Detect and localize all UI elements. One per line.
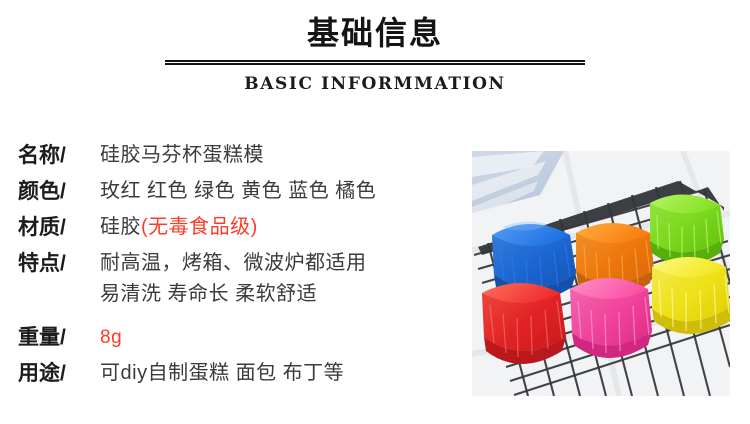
product-info-banner: 基础信息 BASIC INFORMMATION 名称/ 硅胶马芬杯蛋糕模 颜色/… bbox=[0, 0, 750, 424]
spec-row-weight: 重量/ 8g bbox=[18, 322, 468, 353]
spec-value-material: 硅胶(无毒食品级) bbox=[100, 212, 468, 243]
spec-label-material: 材质/ bbox=[18, 212, 100, 243]
spec-label-usage: 用途/ bbox=[18, 358, 100, 389]
spec-label-color: 颜色/ bbox=[18, 176, 100, 207]
spec-row-color: 颜色/ 玫红 红色 绿色 黄色 蓝色 橘色 bbox=[18, 176, 468, 207]
spec-value-usage: 可diy自制蛋糕 面包 布丁等 bbox=[100, 358, 468, 389]
spec-value-features-line2: 易清洗 寿命长 柔软舒适 bbox=[100, 279, 468, 310]
spec-row-name: 名称/ 硅胶马芬杯蛋糕模 bbox=[18, 140, 468, 171]
spec-value-weight: 8g bbox=[100, 322, 468, 353]
spec-row-features: 特点/ 耐高温，烤箱、微波炉都适用易清洗 寿命长 柔软舒适 bbox=[18, 248, 468, 310]
page-subtitle: BASIC INFORMMATION bbox=[0, 73, 750, 95]
spec-value-color: 玫红 红色 绿色 黄色 蓝色 橘色 bbox=[100, 176, 468, 207]
divider-line-top bbox=[165, 60, 585, 62]
spec-list: 名称/ 硅胶马芬杯蛋糕模 颜色/ 玫红 红色 绿色 黄色 蓝色 橘色 材质/ 硅… bbox=[18, 140, 468, 394]
spec-value-name: 硅胶马芬杯蛋糕模 bbox=[100, 140, 468, 171]
spec-row-usage: 用途/ 可diy自制蛋糕 面包 布丁等 bbox=[18, 358, 468, 389]
spec-label-name: 名称/ bbox=[18, 140, 100, 171]
product-photo-illustration bbox=[472, 151, 730, 396]
product-photo bbox=[472, 151, 730, 396]
spec-label-weight: 重量/ bbox=[18, 322, 100, 353]
spec-row-material: 材质/ 硅胶(无毒食品级) bbox=[18, 212, 468, 243]
spec-value-features-line1: 耐高温，烤箱、微波炉都适用 bbox=[100, 252, 367, 274]
spec-value-material-accent: (无毒食品级) bbox=[141, 216, 258, 238]
spec-value-features: 耐高温，烤箱、微波炉都适用易清洗 寿命长 柔软舒适 bbox=[100, 248, 468, 310]
banner-header: 基础信息 BASIC INFORMMATION bbox=[0, 0, 750, 110]
page-title: 基础信息 bbox=[0, 13, 750, 53]
spec-value-material-text: 硅胶 bbox=[100, 216, 141, 238]
spec-label-features: 特点/ bbox=[18, 248, 100, 279]
divider-line-bottom bbox=[165, 63, 585, 65]
title-divider bbox=[165, 60, 585, 65]
